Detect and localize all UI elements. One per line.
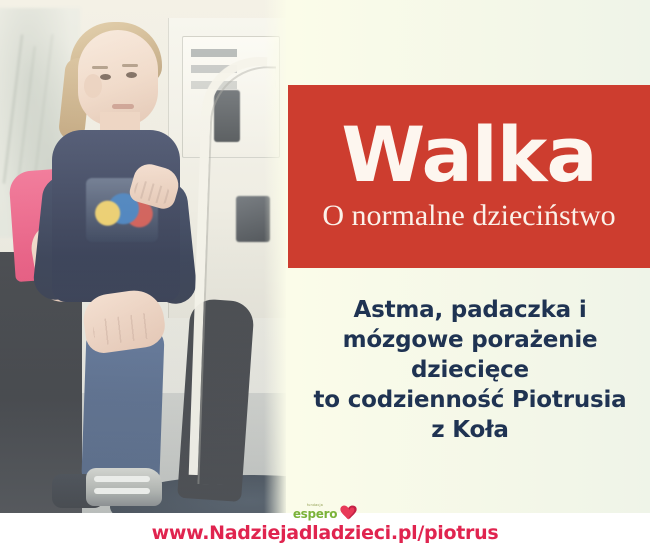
espero-logo-text: fundacja espero <box>293 504 337 520</box>
poster: Walka O normalne dzieciństwo Astma, pada… <box>0 0 650 545</box>
body-copy: Astma, padaczka i mózgowe porażenie dzie… <box>300 296 640 445</box>
body-line: Astma, padaczka i <box>300 296 640 326</box>
espero-logo: fundacja espero <box>293 504 357 520</box>
espero-logo-word: espero <box>293 508 337 520</box>
site-url[interactable]: www.Nadziejadladzieci.pl/piotrus <box>0 522 650 544</box>
body-line: dziecięce <box>300 356 640 386</box>
heart-icon <box>340 505 357 520</box>
banner-subtitle: O normalne dzieciństwo <box>322 199 615 232</box>
body-line: mózgowe porażenie <box>300 326 640 356</box>
photo-child-eyes <box>126 72 137 78</box>
photo-child-mouth <box>112 104 134 109</box>
headline-banner: Walka O normalne dzieciństwo <box>288 85 650 268</box>
photo-child-ear <box>84 74 102 98</box>
footer: fundacja espero www.Nadziejadladzieci.pl… <box>0 513 650 545</box>
body-line: to codzienność Piotrusia <box>300 386 640 416</box>
hero-photo <box>0 0 286 513</box>
body-line: z Koła <box>300 416 640 446</box>
banner-title: Walka <box>341 117 596 193</box>
photo-child-brows <box>122 64 138 67</box>
photo-child-shoe-front <box>86 468 162 506</box>
